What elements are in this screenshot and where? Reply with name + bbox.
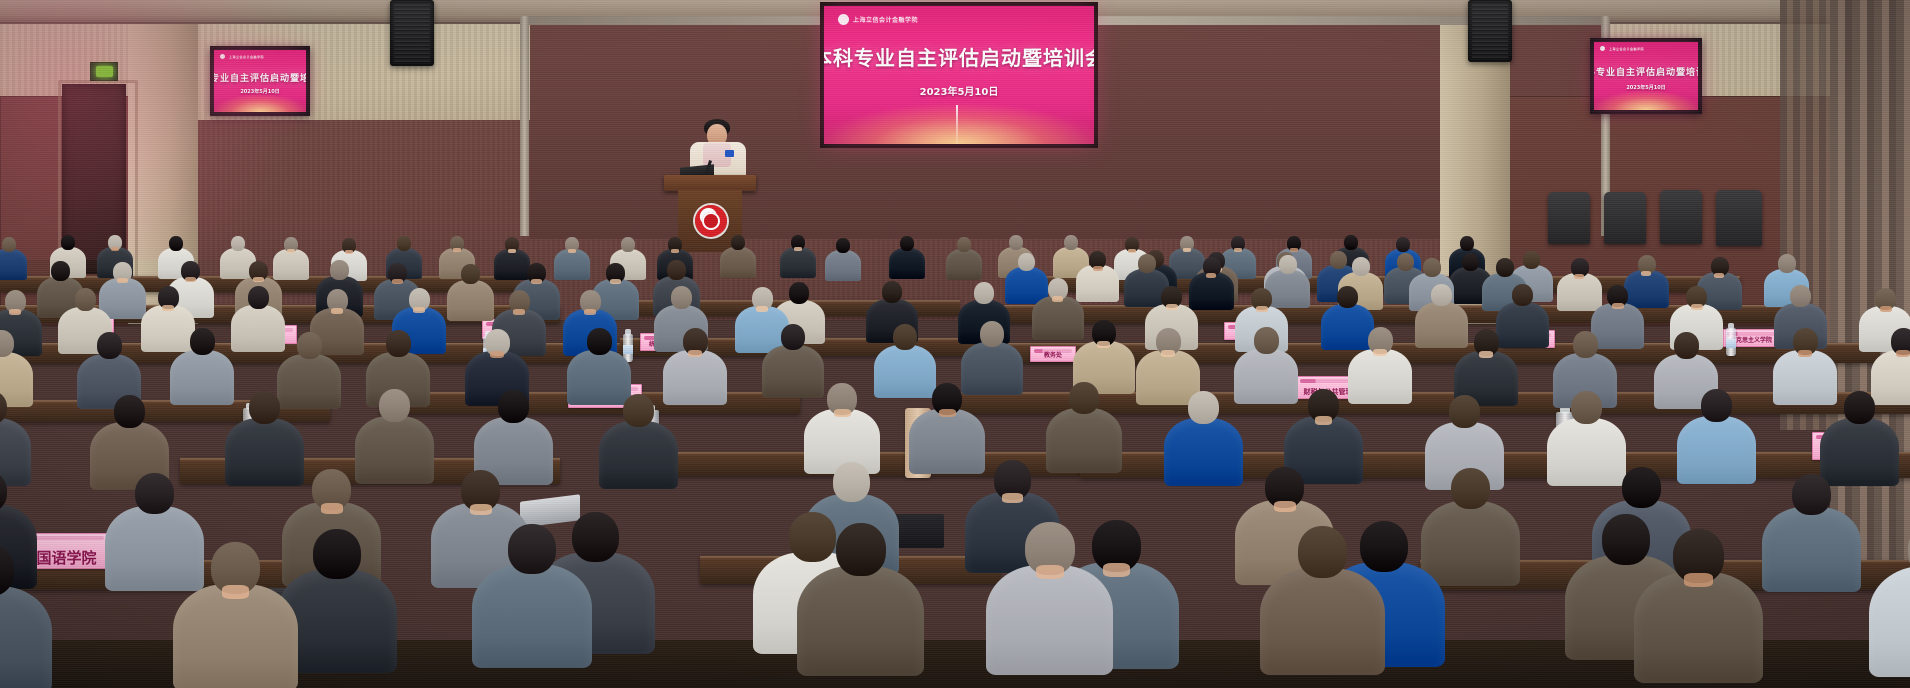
audience-member-neck [222,585,249,599]
audience-member-torso [1634,572,1763,683]
audience-member [889,236,925,282]
slide-title: 本科专业自主评估启动暨培训会 [214,71,306,84]
audience-member-neck [1256,306,1268,312]
audience-member-torso [173,584,298,688]
main-projection-screen: 上海立信会计金融学院 本科专业自主评估启动暨培训会 2023年5月10日 [820,2,1098,148]
audience-member-neck [111,247,119,251]
slide-skyline-graphic [1594,86,1698,110]
audience-member-neck [1315,416,1332,425]
audience-member-head [731,235,745,250]
audience-member-head [1778,254,1796,273]
audience-member-head [1352,257,1370,276]
audience-member-head [623,394,654,427]
slide-logo-text: 上海立信会计金融学院 [229,55,264,59]
audience-member-head [621,237,635,252]
audience-member-neck [671,249,679,253]
audience-member-head [1431,284,1452,306]
slide-logo-left: 上海立信会计金融学院 [220,54,264,59]
audience-member-torso [797,566,924,676]
audience-member-head [1844,391,1875,424]
loudspeaker-right [1468,0,1512,62]
audience-member-neck [508,249,516,253]
audience-member-neck [1574,274,1584,279]
audience-member-head [1451,468,1490,509]
audience-member-neck [1641,271,1651,276]
slide-tower-graphic [956,105,958,144]
audience-member [0,544,52,688]
audience-member-head [1279,255,1297,274]
audience-member-head [1573,331,1598,358]
audience-member-neck [1166,304,1178,310]
audience-member-neck [834,409,851,417]
audience-member-head [1298,526,1347,578]
audience-member-head [1571,391,1602,424]
audience-member-head [231,236,245,251]
emergency-exit-sign [90,62,118,81]
audience-member [1260,526,1385,685]
loudspeaker-left [390,0,434,66]
audience-member-neck [794,247,802,251]
audience-member-head [190,328,215,355]
audience-member-head [1701,389,1732,422]
audience-member-neck [1183,248,1191,252]
department-placard: 教务处 [1030,346,1076,362]
audience-member-neck [584,309,596,315]
slide-logo-text: 上海立信会计金融学院 [1609,47,1644,51]
audience-member-head [498,390,529,423]
audience-member [1762,474,1861,600]
slide-content: 上海立信会计金融学院 本科专业自主评估启动暨培训会 2023年5月10日 [824,6,1094,144]
audience-member [946,237,982,283]
audience-member-neck [1880,306,1892,312]
audience-member-neck [513,309,525,315]
audience-member-neck [1274,501,1296,512]
stacking-chair [1604,192,1646,244]
audience-member-head [114,395,145,428]
audience-member-head [833,462,870,502]
audience-member-neck [490,351,504,358]
audience-member-head [1674,332,1699,359]
audience-member-head [386,330,411,357]
audience-member-head [1064,235,1078,250]
audience-member-head [1512,284,1533,306]
audience-member-head [836,238,850,253]
podium-top [664,175,756,191]
university-logo-icon [220,54,225,59]
audience-member-neck [610,279,621,284]
slide-title: 本科专业自主评估启动暨培训会 [824,42,1094,71]
audience-member-head [1018,253,1035,271]
university-logo-icon [838,14,849,25]
slide-content-right: 上海立信会计金融学院 本科专业自主评估启动暨培训会 2023年5月10日 [1594,42,1698,110]
audience-member-neck [1002,493,1023,503]
audience-member [1164,391,1243,492]
slide-logo-right: 上海立信会计金融学院 [1600,46,1644,51]
audience-member-head [781,324,805,350]
audience-member-torso [825,250,861,281]
stacking-chair [1548,192,1590,244]
audience-member-head [900,236,914,251]
audience-member-head [169,236,183,251]
audience-member-neck [756,306,768,312]
audience-member-neck [1093,266,1103,271]
audience-member-head [980,321,1004,347]
audience-member-neck [1691,304,1703,310]
audience-member-neck [413,307,425,313]
water-bottle [1726,328,1736,356]
audience-member [797,523,924,686]
audience-member-head [1396,237,1410,252]
audience-member-head [379,389,410,422]
audience-member-head [587,328,612,355]
audience-member-head [135,473,174,514]
audience-member-head [1009,235,1023,250]
audience-member-neck [1798,350,1812,357]
audience-member [0,237,27,283]
audience-member-head [1496,258,1514,277]
audience-member-torso [1164,418,1243,486]
audience-member-neck [453,248,461,252]
slide-logo: 上海立信会计金融学院 [838,14,918,25]
audience-member-neck [939,409,956,417]
audience-member-neck [1052,296,1063,302]
slide-title: 本科专业自主评估启动暨培训会 [1594,65,1698,78]
audience-member-head [671,286,692,309]
audience-member-neck [1479,351,1493,358]
audience-member-torso [0,586,52,688]
audience-member-torso [599,421,678,489]
audience-member [1634,529,1763,688]
audience-member-torso [889,248,925,279]
university-emblem-icon [695,205,727,237]
audience-member-neck [688,350,702,357]
wall-monitor-left: 上海立信会计金融学院 本科专业自主评估启动暨培训会 2023年5月10日 [210,46,310,116]
audience-member-neck [568,249,576,253]
audience-member [780,235,816,281]
audience-member-neck [1161,350,1175,357]
audience-member-head [1138,254,1156,273]
audience-member-head [1423,258,1441,277]
audience-member-neck [1206,273,1216,278]
stage-truss-left [520,16,529,236]
slide-skyline-graphic [214,90,306,112]
audience-member-head [397,236,411,251]
audience-member-head [1069,382,1099,414]
audience-member-head [1462,253,1479,271]
audience-member-torso [720,247,756,278]
placard-label: 教务处 [1044,353,1062,361]
audience-member-torso [0,249,27,280]
exit-icon [96,66,113,77]
audience-member [986,522,1113,685]
audience-member-head [248,286,269,309]
audience-member-head [249,391,280,424]
audience-member-head [75,288,96,311]
audience-member-neck [531,279,542,284]
audience-member-head [1460,236,1474,251]
audience-member-torso [1260,568,1385,675]
audience-member-neck [392,279,403,284]
stacking-chair [1660,190,1702,244]
audience-member-head [1344,235,1358,250]
audience-member-head [667,260,686,280]
slide-skyline-graphic [824,94,1094,144]
audience-member-head [836,523,886,576]
audience-member-neck [1036,565,1064,579]
audience-member-neck [1714,273,1724,278]
stacking-chair [1716,190,1762,246]
audience-member-head [313,529,361,579]
slide-content-left: 上海立信会计金融学院 本科专业自主评估启动暨培训会 2023年5月10日 [214,50,306,112]
audience-member-head [1188,391,1219,424]
audience-member-torso [986,565,1113,675]
audience-member-torso [1869,566,1910,677]
audience-member-head [957,237,971,252]
audience-member [599,394,678,495]
audience-member-neck [185,277,196,282]
audience-member-head [882,281,902,303]
audience-member-head [893,324,917,350]
audience-member-neck [253,277,264,282]
audience-member-head [1337,286,1358,308]
audience-member-neck [331,308,343,314]
presenter-badge [725,150,734,157]
audience-member-head [61,235,75,250]
university-logo-icon [1600,46,1605,51]
audience-member-neck [1612,303,1624,309]
lecture-hall-photo: 上海立信会计金融学院 本科专业自主评估启动暨培训会 2023年5月10日 上海立… [0,0,1910,688]
audience-member-neck [1684,573,1713,587]
audience-member-head [789,282,809,304]
audience-member-head [97,332,122,359]
audience-member-torso [780,247,816,278]
audience-member-torso [472,564,592,668]
audience-member-torso [946,249,982,280]
audience-member-neck [321,503,343,514]
audience-member-neck [1896,350,1910,357]
audience-member-neck [117,278,128,283]
audience-member [173,542,298,688]
audience-member-head [2,237,16,252]
audience-member-head [51,261,70,281]
audience-member-head [1254,327,1279,354]
audience-member-head [1792,474,1831,515]
audience-member-head [330,260,349,280]
audience-member-neck [1097,341,1110,348]
placard-label: 马克思主义学院 [1730,338,1772,346]
audience-member-neck [9,309,21,315]
audience-member-head [974,282,994,304]
wall-monitor-right: 上海立信会计金融学院 本科专业自主评估启动暨培训会 2023年5月10日 [1590,38,1702,114]
audience-member-head [1449,395,1480,428]
audience-member-neck [1373,349,1387,356]
audience-member [447,264,494,325]
audience-member [825,238,861,284]
audience-member [720,235,756,281]
audience-member [472,524,592,678]
slide-logo-text: 上海立信会计金融学院 [853,15,918,24]
audience-member-head [1790,285,1811,307]
audience-member-neck [470,504,492,515]
audience-member [1869,523,1910,688]
audience-member-head [508,524,556,574]
audience-member-head [297,332,322,359]
audience-member-neck [345,250,353,254]
audience-member-torso [447,280,494,321]
audience-member-torso [1762,507,1861,592]
audience-member-head [461,264,480,284]
audience-member-neck [287,249,295,253]
audience-member-neck [162,305,174,311]
audience-member-head [1622,467,1661,508]
